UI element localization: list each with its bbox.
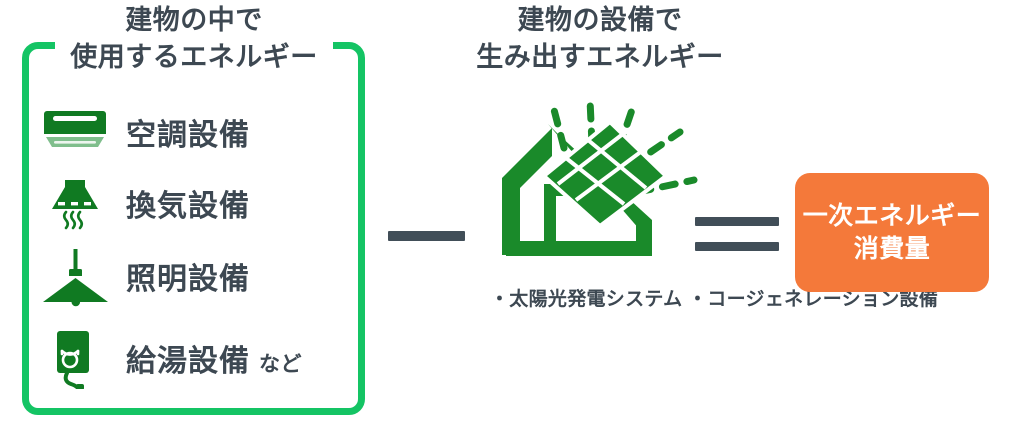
result-label: 一次エネルギー 消費量 [803,200,982,266]
water-heater-icon [40,327,116,389]
list-item-text: 換気設備 [126,190,250,223]
result-badge: 一次エネルギー 消費量 [795,173,989,292]
list-item-label: 給湯設備など [126,336,302,380]
list-item-suffix: など [259,353,302,376]
list-item-label: 照明設備 [126,254,250,298]
list-item-water-heater: 給湯設備など [40,327,340,389]
house-with-solar-panel-icon [488,100,718,295]
minus-operator-icon [388,231,465,241]
equals-operator-icon [695,217,779,251]
list-item-label: 換気設備 [126,181,250,225]
left-panel-title: 建物の中で 使用するエネルギー [22,2,366,75]
list-item-text: 給湯設備 [126,345,250,378]
diagram-canvas: 建物の中で 使用するエネルギー 空調設備 [0,0,1024,427]
list-item-label: 空調設備 [126,110,250,154]
pendant-lamp-icon [40,245,116,307]
list-item-lighting: 照明設備 [40,245,340,307]
air-conditioner-icon [40,101,116,163]
list-item-air-conditioning: 空調設備 [40,101,340,163]
middle-panel-bullets: ・太陽光発電システム ・コージェネレーション設備 [490,286,790,314]
ventilation-hood-icon [40,172,116,234]
list-item-text: 照明設備 [126,263,250,296]
middle-panel-title: 建物の設備で 生み出すエネルギー [440,2,760,75]
list-item-text: 空調設備 [126,119,250,152]
list-item-ventilation: 換気設備 [40,172,340,234]
